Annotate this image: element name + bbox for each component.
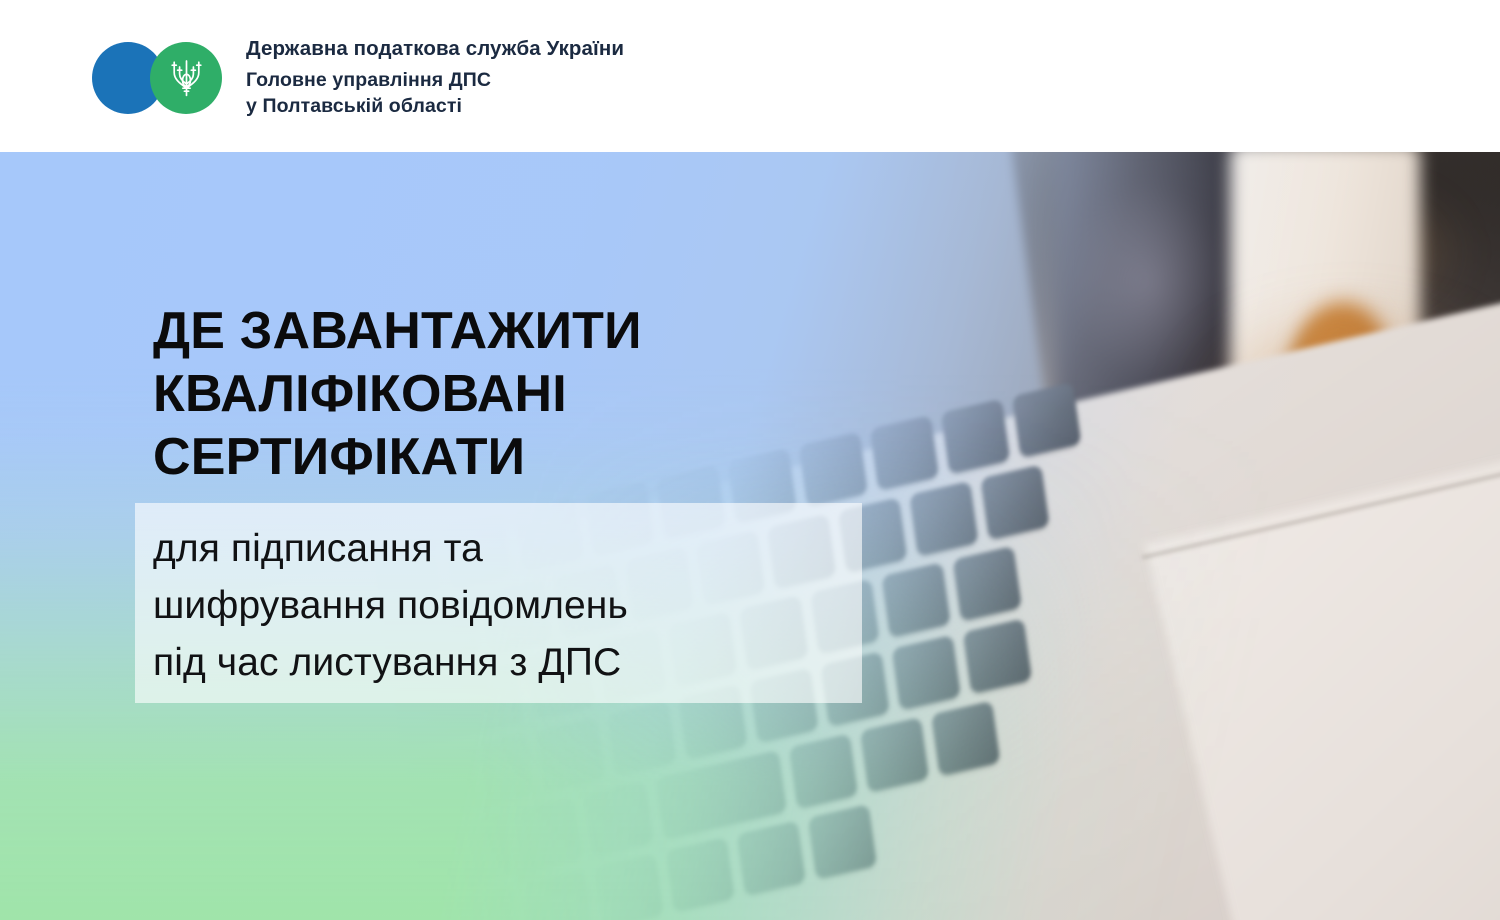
logo-green-circle-icon <box>150 42 222 114</box>
headline-line-2: КВАЛІФІКОВАНІ <box>153 363 913 426</box>
org-name-block: Державна податкова служба України Головн… <box>246 36 624 119</box>
subtitle-line-2: шифрування повідомлень <box>153 577 873 634</box>
hero-content: ДЕ ЗАВАНТАЖИТИ КВАЛІФІКОВАНІ СЕРТИФІКАТИ… <box>0 152 1500 920</box>
org-name-line-2: Головне управління ДПС <box>246 68 624 93</box>
org-name-line-3: у Полтавській області <box>246 94 624 119</box>
poster-canvas: Державна податкова служба України Головн… <box>0 0 1500 920</box>
ukrainian-trident-icon <box>170 58 203 98</box>
headline-line-3: СЕРТИФІКАТИ <box>153 426 913 489</box>
subtitle-line-1: для підписання та <box>153 520 873 577</box>
subtitle-line-3: під час листування з ДПС <box>153 634 873 691</box>
org-name-line-1: Державна податкова служба України <box>246 36 624 62</box>
hero-headline: ДЕ ЗАВАНТАЖИТИ КВАЛІФІКОВАНІ СЕРТИФІКАТИ <box>153 300 913 489</box>
headline-line-1: ДЕ ЗАВАНТАЖИТИ <box>153 300 913 363</box>
logo-marks <box>92 36 234 118</box>
header-bar: Державна податкова служба України Головн… <box>0 0 1500 152</box>
hero-subtitle: для підписання та шифрування повідомлень… <box>153 520 873 691</box>
hero-image-stage: ДЕ ЗАВАНТАЖИТИ КВАЛІФІКОВАНІ СЕРТИФІКАТИ… <box>0 152 1500 920</box>
brand-lockup: Державна податкова служба України Головн… <box>92 36 624 119</box>
